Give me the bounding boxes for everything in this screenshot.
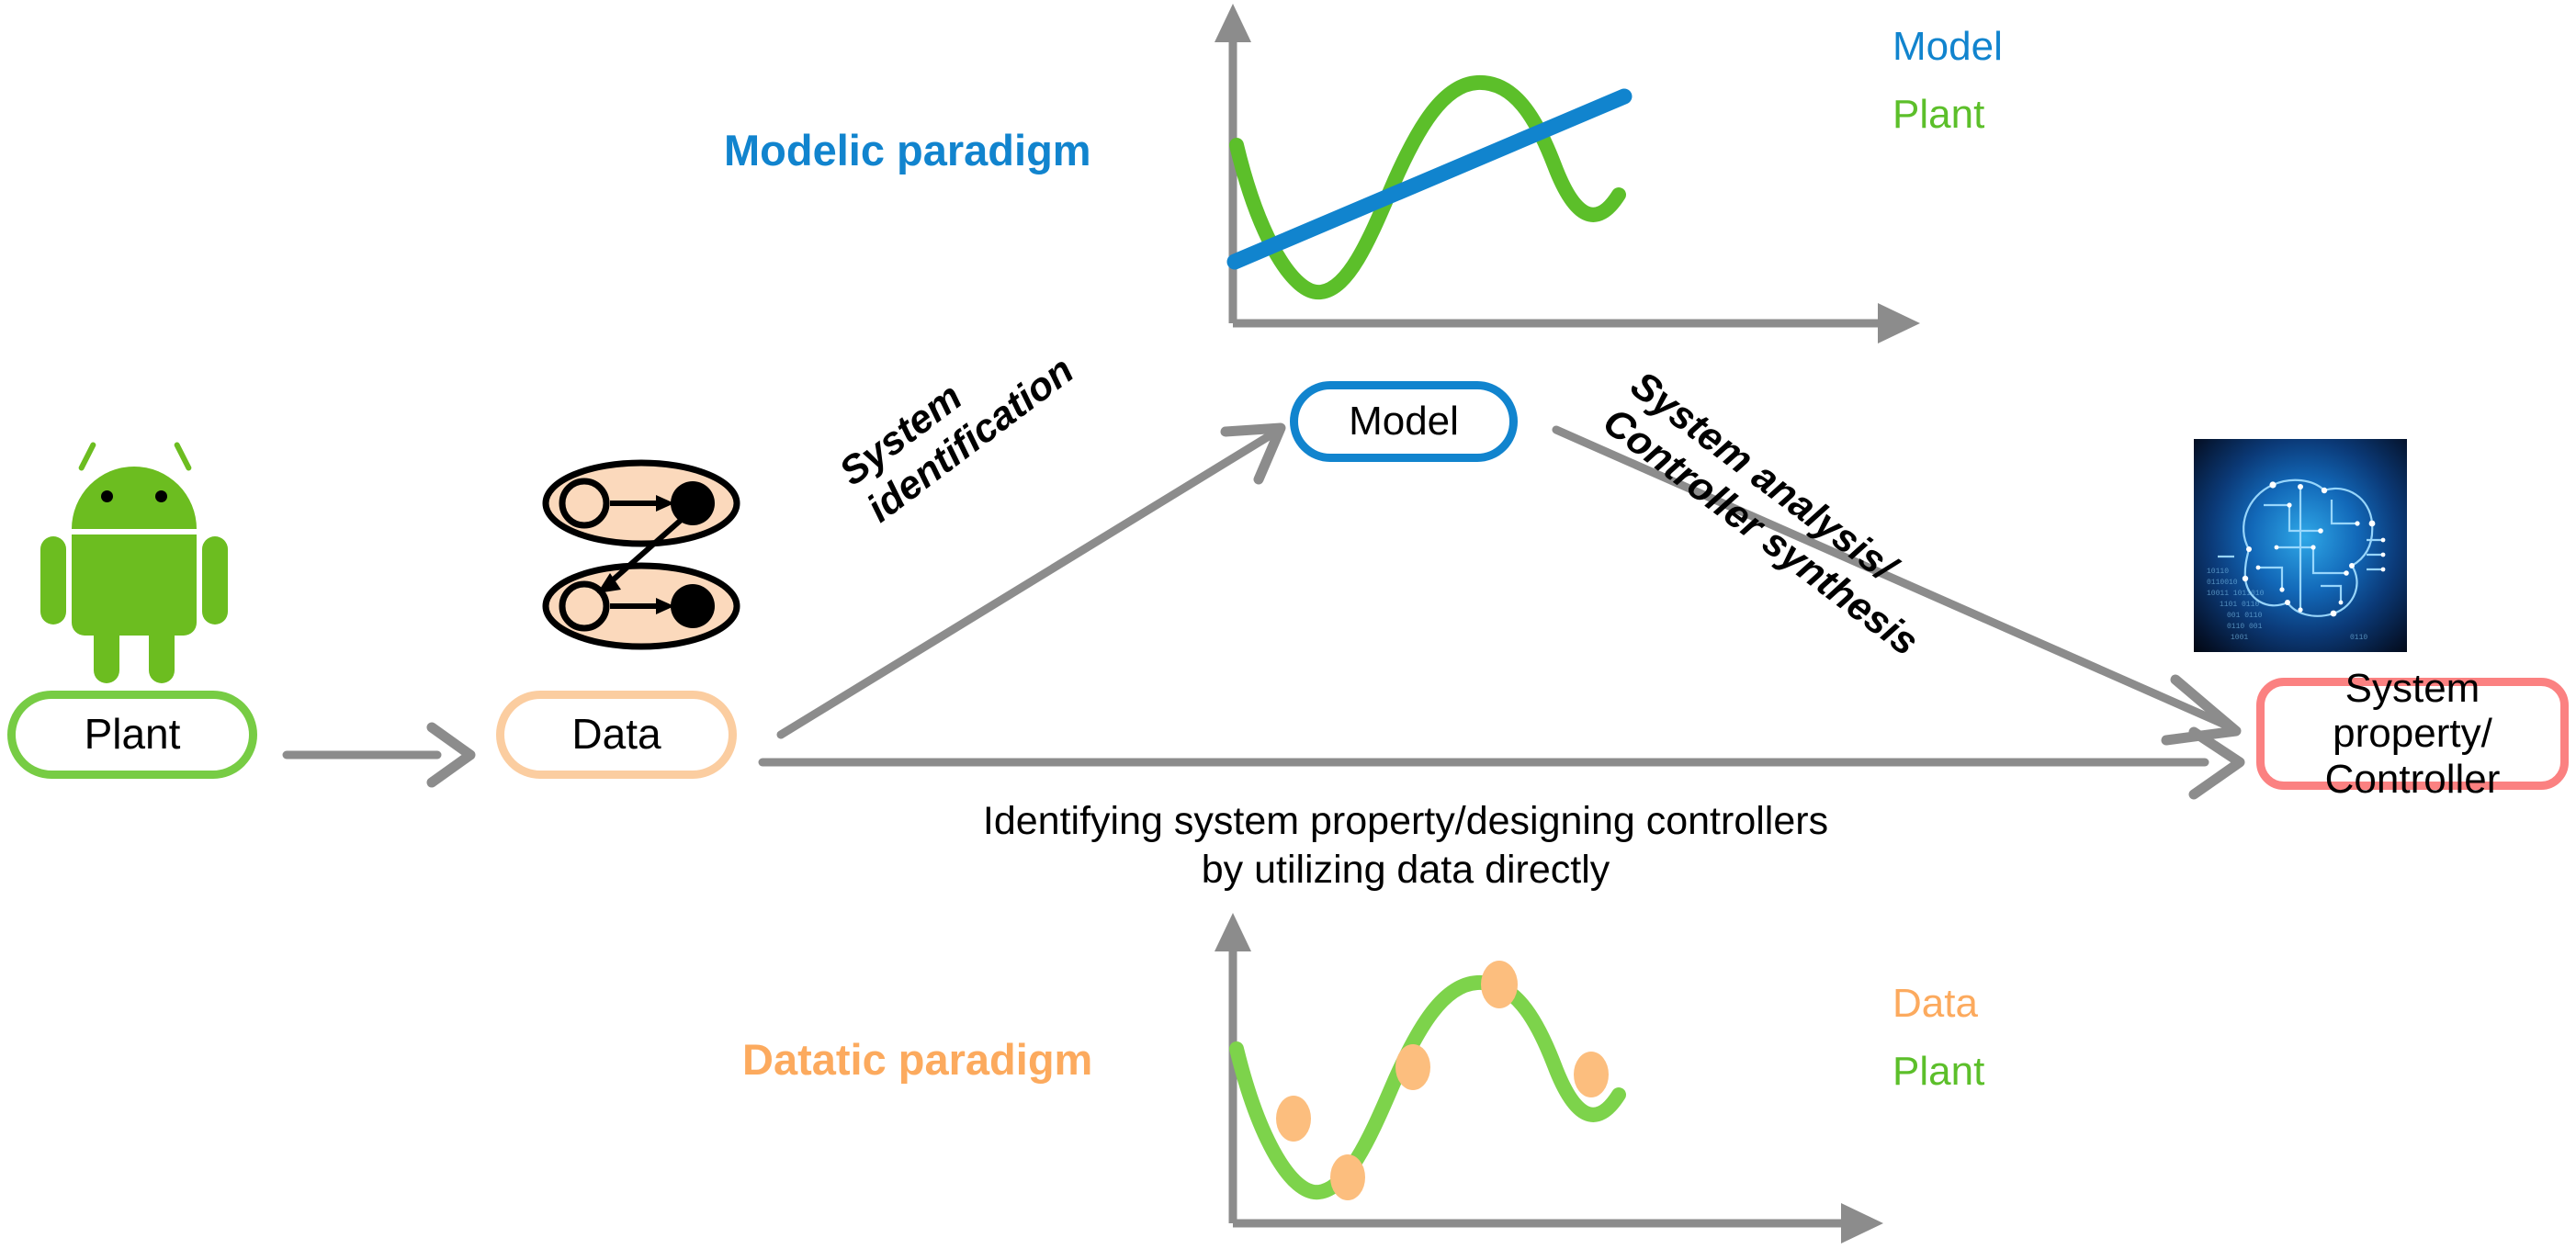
datatic-paradigm-label: Datatic paradigm <box>742 1034 1092 1085</box>
svg-text:10011 1011010: 10011 1011010 <box>2207 590 2265 598</box>
series-plant-line-bottom <box>1237 983 1619 1192</box>
modelic-paradigm-chart <box>1194 0 1948 349</box>
svg-text:0110010: 0110010 <box>2207 579 2238 587</box>
android-arm-right-icon <box>202 536 228 624</box>
legend-plant-top: Plant <box>1892 92 1984 138</box>
result-node-label-line2: Controller <box>2325 757 2501 802</box>
svg-text:0110: 0110 <box>2350 634 2367 642</box>
arrow-system-identification <box>763 367 1314 753</box>
android-robot-icon <box>28 422 239 680</box>
svg-text:1101 0110: 1101 0110 <box>2220 601 2259 609</box>
ai-brain-circuit-icon: 101100110010 10011 10110101101 0110 001 … <box>2194 439 2407 652</box>
android-antenna-right-icon <box>174 441 193 471</box>
svg-text:1001: 1001 <box>2231 634 2248 642</box>
android-eye-left-icon <box>101 490 113 502</box>
result-node-label-line1: System property/ <box>2265 666 2560 757</box>
datatic-paradigm-chart <box>1194 909 1948 1249</box>
data-node-label: Data <box>571 711 661 759</box>
plant-node-label: Plant <box>85 711 181 759</box>
android-leg-right-icon <box>149 626 175 683</box>
chart-x-axis <box>1233 1203 1883 1243</box>
direct-data-caption: Identifying system property/designing co… <box>882 797 1929 895</box>
model-node-label: Model <box>1349 399 1459 444</box>
legend-plant-bottom: Plant <box>1892 1049 1984 1095</box>
legend-model: Model <box>1892 24 2003 70</box>
model-node[interactable]: Model <box>1290 381 1518 462</box>
android-arm-left-icon <box>40 536 66 624</box>
plant-node[interactable]: Plant <box>7 691 257 779</box>
android-antenna-left-icon <box>78 441 97 471</box>
data-graph-icon <box>540 459 742 670</box>
modelic-paradigm-label: Modelic paradigm <box>724 125 1091 175</box>
system-property-controller-node[interactable]: System property/ Controller <box>2256 678 2569 790</box>
legend-data: Data <box>1892 981 1978 1027</box>
data-node[interactable]: Data <box>496 691 737 779</box>
android-eye-right-icon <box>155 490 167 502</box>
diagram-canvas: Model Plant Modelic paradigm Plant <box>0 0 2576 1249</box>
svg-text:001 0110: 001 0110 <box>2227 612 2263 620</box>
chart-x-axis <box>1233 303 1920 343</box>
android-head-icon <box>72 467 197 529</box>
android-body-icon <box>72 534 197 636</box>
svg-text:10110: 10110 <box>2207 568 2229 576</box>
arrow-plant-to-data <box>276 707 496 808</box>
svg-text:0110 001: 0110 001 <box>2227 623 2263 631</box>
android-leg-left-icon <box>94 626 119 683</box>
